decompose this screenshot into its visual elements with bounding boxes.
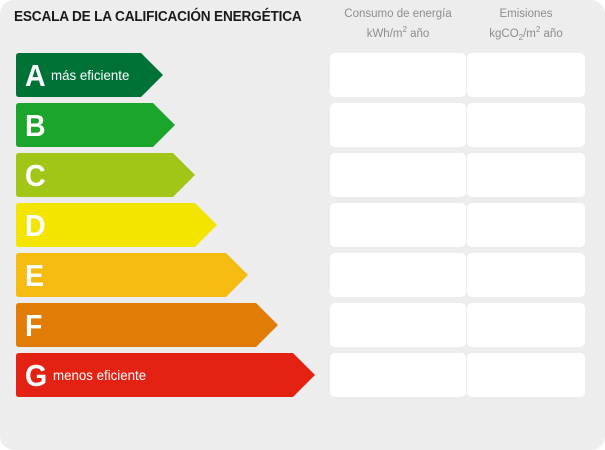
column-header-consumo-line2: kWh/m2 año: [330, 22, 466, 42]
rating-row: C: [0, 150, 605, 200]
rating-row: Gmenos eficiente: [0, 350, 605, 400]
value-text: [330, 103, 466, 147]
rating-row: B: [0, 100, 605, 150]
column-header-emisiones-line1: Emisiones: [499, 8, 552, 20]
value-text: [467, 153, 585, 197]
value-box-consumo-d[interactable]: [330, 203, 466, 247]
value-box-consumo-c[interactable]: [330, 153, 466, 197]
value-text: [467, 353, 585, 397]
value-box-consumo-b[interactable]: [330, 103, 466, 147]
value-text: [330, 53, 466, 97]
value-box-emisiones-d[interactable]: [467, 203, 585, 247]
value-box-consumo-e[interactable]: [330, 253, 466, 297]
rating-row: Amás eficiente: [0, 50, 605, 100]
value-box-consumo-g[interactable]: [330, 353, 466, 397]
value-text: [330, 303, 466, 347]
value-text: [467, 203, 585, 247]
value-box-consumo-a[interactable]: [330, 53, 466, 97]
value-text: [330, 353, 466, 397]
rating-row: F: [0, 300, 605, 350]
value-box-consumo-f[interactable]: [330, 303, 466, 347]
emisiones-unit-suffix: año: [540, 28, 562, 40]
energy-rating-label: ESCALA DE LA CALIFICACIÓN ENERGÉTICA Con…: [0, 0, 605, 450]
column-header-emisiones-line2: kgCO2/m2 año: [467, 22, 585, 45]
column-header-consumo-line1: Consumo de energía: [344, 8, 451, 20]
label-header: ESCALA DE LA CALIFICACIÓN ENERGÉTICA Con…: [0, 0, 605, 46]
rating-bar-f: F: [16, 303, 278, 347]
consumo-unit-prefix: kWh/m: [367, 28, 403, 40]
consumo-unit-suffix: año: [407, 28, 429, 40]
emisiones-unit-prefix: kgCO: [489, 28, 518, 40]
rating-bar-e: E: [16, 253, 248, 297]
value-text: [330, 253, 466, 297]
value-box-emisiones-c[interactable]: [467, 153, 585, 197]
rating-bar-c: C: [16, 153, 195, 197]
value-text: [330, 203, 466, 247]
rating-row: E: [0, 250, 605, 300]
rating-bar-a: Amás eficiente: [16, 53, 163, 97]
value-text: [467, 53, 585, 97]
column-header-consumo: Consumo de energía kWh/m2 año: [330, 7, 466, 42]
value-text: [467, 303, 585, 347]
value-box-emisiones-a[interactable]: [467, 53, 585, 97]
value-box-emisiones-e[interactable]: [467, 253, 585, 297]
value-box-emisiones-g[interactable]: [467, 353, 585, 397]
value-text: [330, 153, 466, 197]
value-text: [467, 103, 585, 147]
rating-row: D: [0, 200, 605, 250]
rating-bar-g: Gmenos eficiente: [16, 353, 315, 397]
value-text: [467, 253, 585, 297]
value-box-emisiones-b[interactable]: [467, 103, 585, 147]
rating-bar-d: D: [16, 203, 217, 247]
emisiones-unit-mid: /m: [523, 28, 536, 40]
rating-rows: Amás eficienteBCDEFGmenos eficiente: [0, 46, 605, 450]
column-header-emisiones: Emisiones kgCO2/m2 año: [467, 7, 585, 45]
page-title: ESCALA DE LA CALIFICACIÓN ENERGÉTICA: [14, 9, 302, 25]
value-box-emisiones-f[interactable]: [467, 303, 585, 347]
rating-bar-b: B: [16, 103, 175, 147]
